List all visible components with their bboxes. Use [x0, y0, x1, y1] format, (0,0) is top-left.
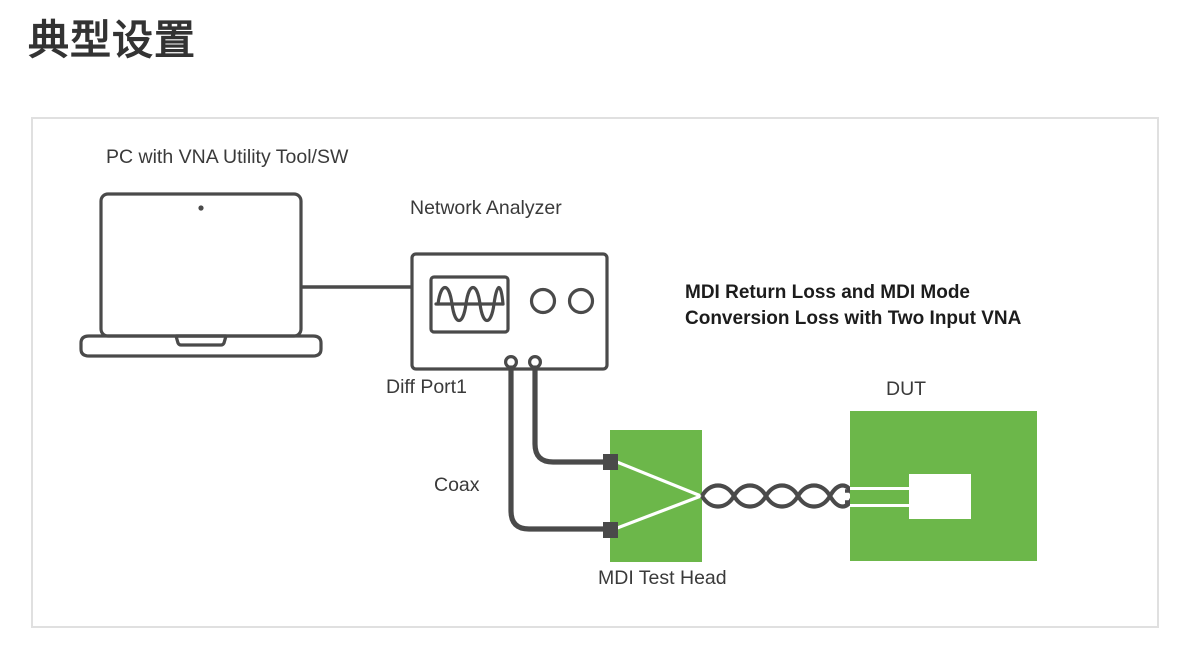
- waveform-icon: [431, 277, 508, 332]
- diff-port-label: Diff Port1: [386, 376, 467, 398]
- diagram-frame: PC with VNA Utility Tool/SW Network Anal…: [31, 117, 1159, 628]
- page-title: 典型设置: [28, 18, 196, 63]
- dut-connector: [909, 474, 971, 519]
- network-analyzer-device: [412, 254, 607, 369]
- network-analyzer-label: Network Analyzer: [410, 197, 562, 219]
- coax-cable-lower: [511, 368, 610, 529]
- dut-block: [850, 411, 1037, 561]
- dut-label: DUT: [886, 378, 926, 400]
- setup-diagram: PC with VNA Utility Tool/SW Network Anal…: [33, 119, 1161, 630]
- test-head-connector-lower: [603, 522, 618, 538]
- coax-cable-upper: [535, 368, 610, 462]
- test-head-connector-upper: [603, 454, 618, 470]
- annotation-line-1: MDI Return Loss and MDI Mode: [685, 282, 970, 303]
- knob-icon[interactable]: [570, 290, 593, 313]
- mdi-test-head-label: MDI Test Head: [598, 567, 727, 589]
- knob-icon[interactable]: [532, 290, 555, 313]
- mdi-test-head-block: [603, 430, 702, 562]
- pc-label: PC with VNA Utility Tool/SW: [106, 146, 349, 168]
- laptop-icon: [81, 194, 321, 356]
- coax-label: Coax: [434, 474, 480, 496]
- annotation-line-2: Conversion Loss with Two Input VNA: [685, 308, 1022, 329]
